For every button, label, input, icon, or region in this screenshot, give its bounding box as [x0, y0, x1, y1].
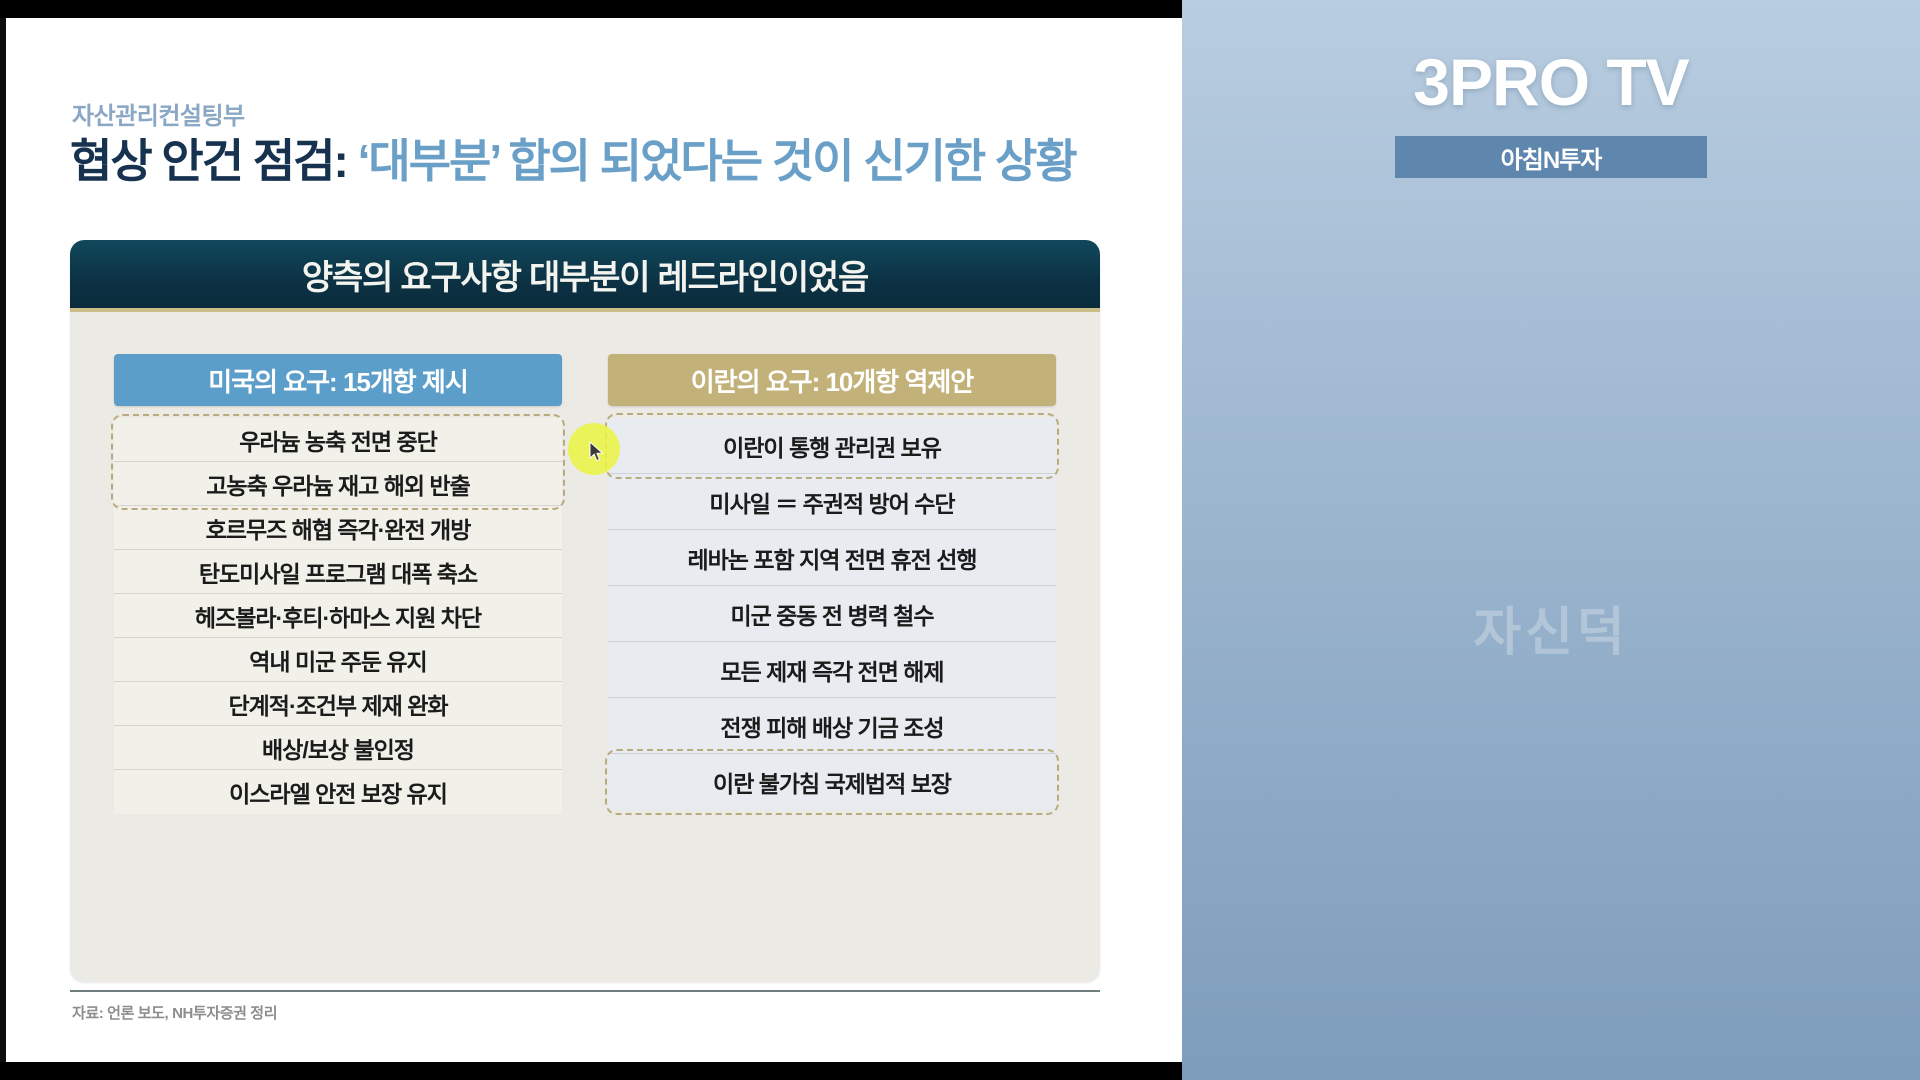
column-us: 미국의 요구: 15개항 제시 우라늄 농축 전면 중단 고농축 우라늄 재고 …	[114, 354, 562, 952]
mouse-pointer-icon	[589, 441, 605, 463]
list-item[interactable]: 단계적·조건부 제재 완화	[114, 682, 562, 726]
column-iran: 이란의 요구: 10개항 역제안 이란이 통행 관리권 보유 미사일 ＝ 주권적…	[608, 354, 1056, 952]
requirement-list-us: 우라늄 농축 전면 중단 고농축 우라늄 재고 해외 반출 호르무즈 해협 즉각…	[114, 418, 562, 814]
brand-logo: 3PRO TV	[1182, 44, 1920, 120]
list-item[interactable]: 레바논 포함 지역 전면 휴전 선행	[608, 530, 1056, 586]
list-item[interactable]: 고농축 우라늄 재고 해외 반출	[114, 462, 562, 506]
page-title-primary: 협상 안건 점검:	[70, 135, 347, 187]
comparison-columns: 미국의 요구: 15개항 제시 우라늄 농축 전면 중단 고농축 우라늄 재고 …	[70, 316, 1100, 982]
column-header-iran: 이란의 요구: 10개항 역제안	[608, 354, 1056, 406]
screen: 자산관리컨설팅부 협상 안건 점검: ‘대부분’ 합의 되었다는 것이 신기한 …	[0, 0, 1920, 1080]
column-header-us: 미국의 요구: 15개항 제시	[114, 354, 562, 406]
list-item[interactable]: 헤즈볼라·후티·하마스 지원 차단	[114, 594, 562, 638]
slide-letterbox-edge	[0, 18, 6, 1062]
panel-banner-text: 양측의 요구사항 대부분이 레드라인이었음	[302, 250, 868, 299]
list-item[interactable]: 미사일 ＝ 주권적 방어 수단	[608, 474, 1056, 530]
list-item[interactable]: 이스라엘 안전 보장 유지	[114, 770, 562, 814]
list-item[interactable]: 탄도미사일 프로그램 대폭 축소	[114, 550, 562, 594]
list-item[interactable]: 전쟁 피해 배상 기금 조성	[608, 698, 1056, 754]
slide: 자산관리컨설팅부 협상 안건 점검: ‘대부분’ 합의 되었다는 것이 신기한 …	[0, 18, 1182, 1062]
page-title: 협상 안건 점검: ‘대부분’ 합의 되었다는 것이 신기한 상황	[70, 136, 1076, 187]
list-item[interactable]: 이란이 통행 관리권 보유	[608, 418, 1056, 474]
list-item[interactable]: 우라늄 농축 전면 중단	[114, 418, 562, 462]
broadcast-sidebar: 3PRO TV 아침N투자 자신덕	[1182, 0, 1920, 1080]
requirement-list-iran: 이란이 통행 관리권 보유 미사일 ＝ 주권적 방어 수단 레바논 포함 지역 …	[608, 418, 1056, 810]
list-item[interactable]: 미군 중동 전 병력 철수	[608, 586, 1056, 642]
watermark-text: 자신덕	[1271, 590, 1831, 665]
list-item[interactable]: 역내 미군 주둔 유지	[114, 638, 562, 682]
list-item[interactable]: 호르무즈 해협 즉각·완전 개방	[114, 506, 562, 550]
program-badge: 아침N투자	[1395, 136, 1707, 178]
list-item[interactable]: 모든 제재 즉각 전면 해제	[608, 642, 1056, 698]
source-note: 자료: 언론 보도, NH투자증권 정리	[72, 1002, 277, 1023]
footer-divider	[70, 990, 1100, 992]
page-title-accent: ‘대부분’ 합의 되었다는 것이 신기한 상황	[358, 135, 1076, 187]
list-item[interactable]: 배상/보상 불인정	[114, 726, 562, 770]
cursor	[568, 423, 624, 479]
slide-kicker: 자산관리컨설팅부	[72, 96, 245, 131]
presentation-video-area[interactable]: 자산관리컨설팅부 협상 안건 점검: ‘대부분’ 합의 되었다는 것이 신기한 …	[0, 0, 1182, 1080]
content-panel: 양측의 요구사항 대부분이 레드라인이었음 미국의 요구: 15개항 제시 우라…	[70, 240, 1100, 982]
list-item[interactable]: 이란 불가침 국제법적 보장	[608, 754, 1056, 810]
panel-banner: 양측의 요구사항 대부분이 레드라인이었음	[70, 240, 1100, 312]
